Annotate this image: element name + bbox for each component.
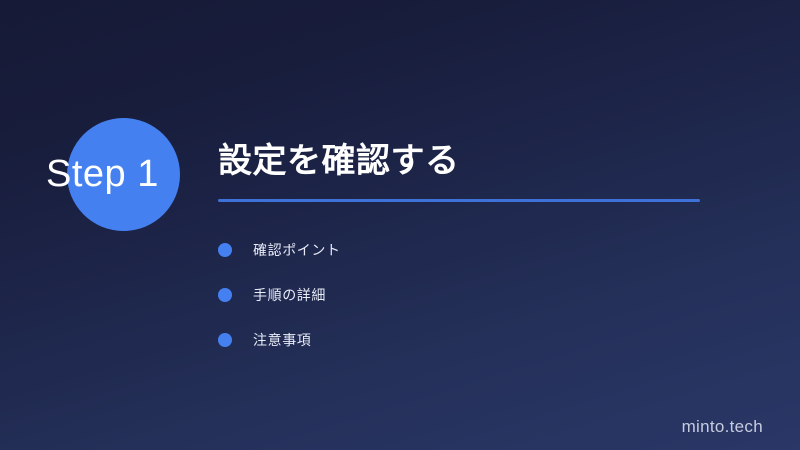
- slide-content: 設定を確認する 確認ポイント 手順の詳細 注意事項: [218, 140, 758, 363]
- bullet-dot-icon: [218, 333, 232, 347]
- bullet-dot-icon: [218, 243, 232, 257]
- bullet-dot-icon: [218, 288, 232, 302]
- list-item: 確認ポイント: [218, 228, 758, 273]
- list-item-label: 確認ポイント: [253, 243, 341, 257]
- list-item: 注意事項: [218, 318, 758, 363]
- step-label: Step 1: [46, 155, 159, 193]
- slide-canvas: Step 1 設定を確認する 確認ポイント 手順の詳細 注意事項 minto.t…: [0, 0, 800, 450]
- list-item-label: 注意事項: [253, 333, 311, 347]
- watermark: minto.tech: [682, 418, 763, 435]
- slide-title: 設定を確認する: [218, 140, 758, 183]
- step-badge: Step 1: [0, 110, 210, 240]
- title-divider: [218, 199, 700, 202]
- bullet-list: 確認ポイント 手順の詳細 注意事項: [218, 228, 758, 363]
- list-item: 手順の詳細: [218, 273, 758, 318]
- list-item-label: 手順の詳細: [253, 288, 326, 302]
